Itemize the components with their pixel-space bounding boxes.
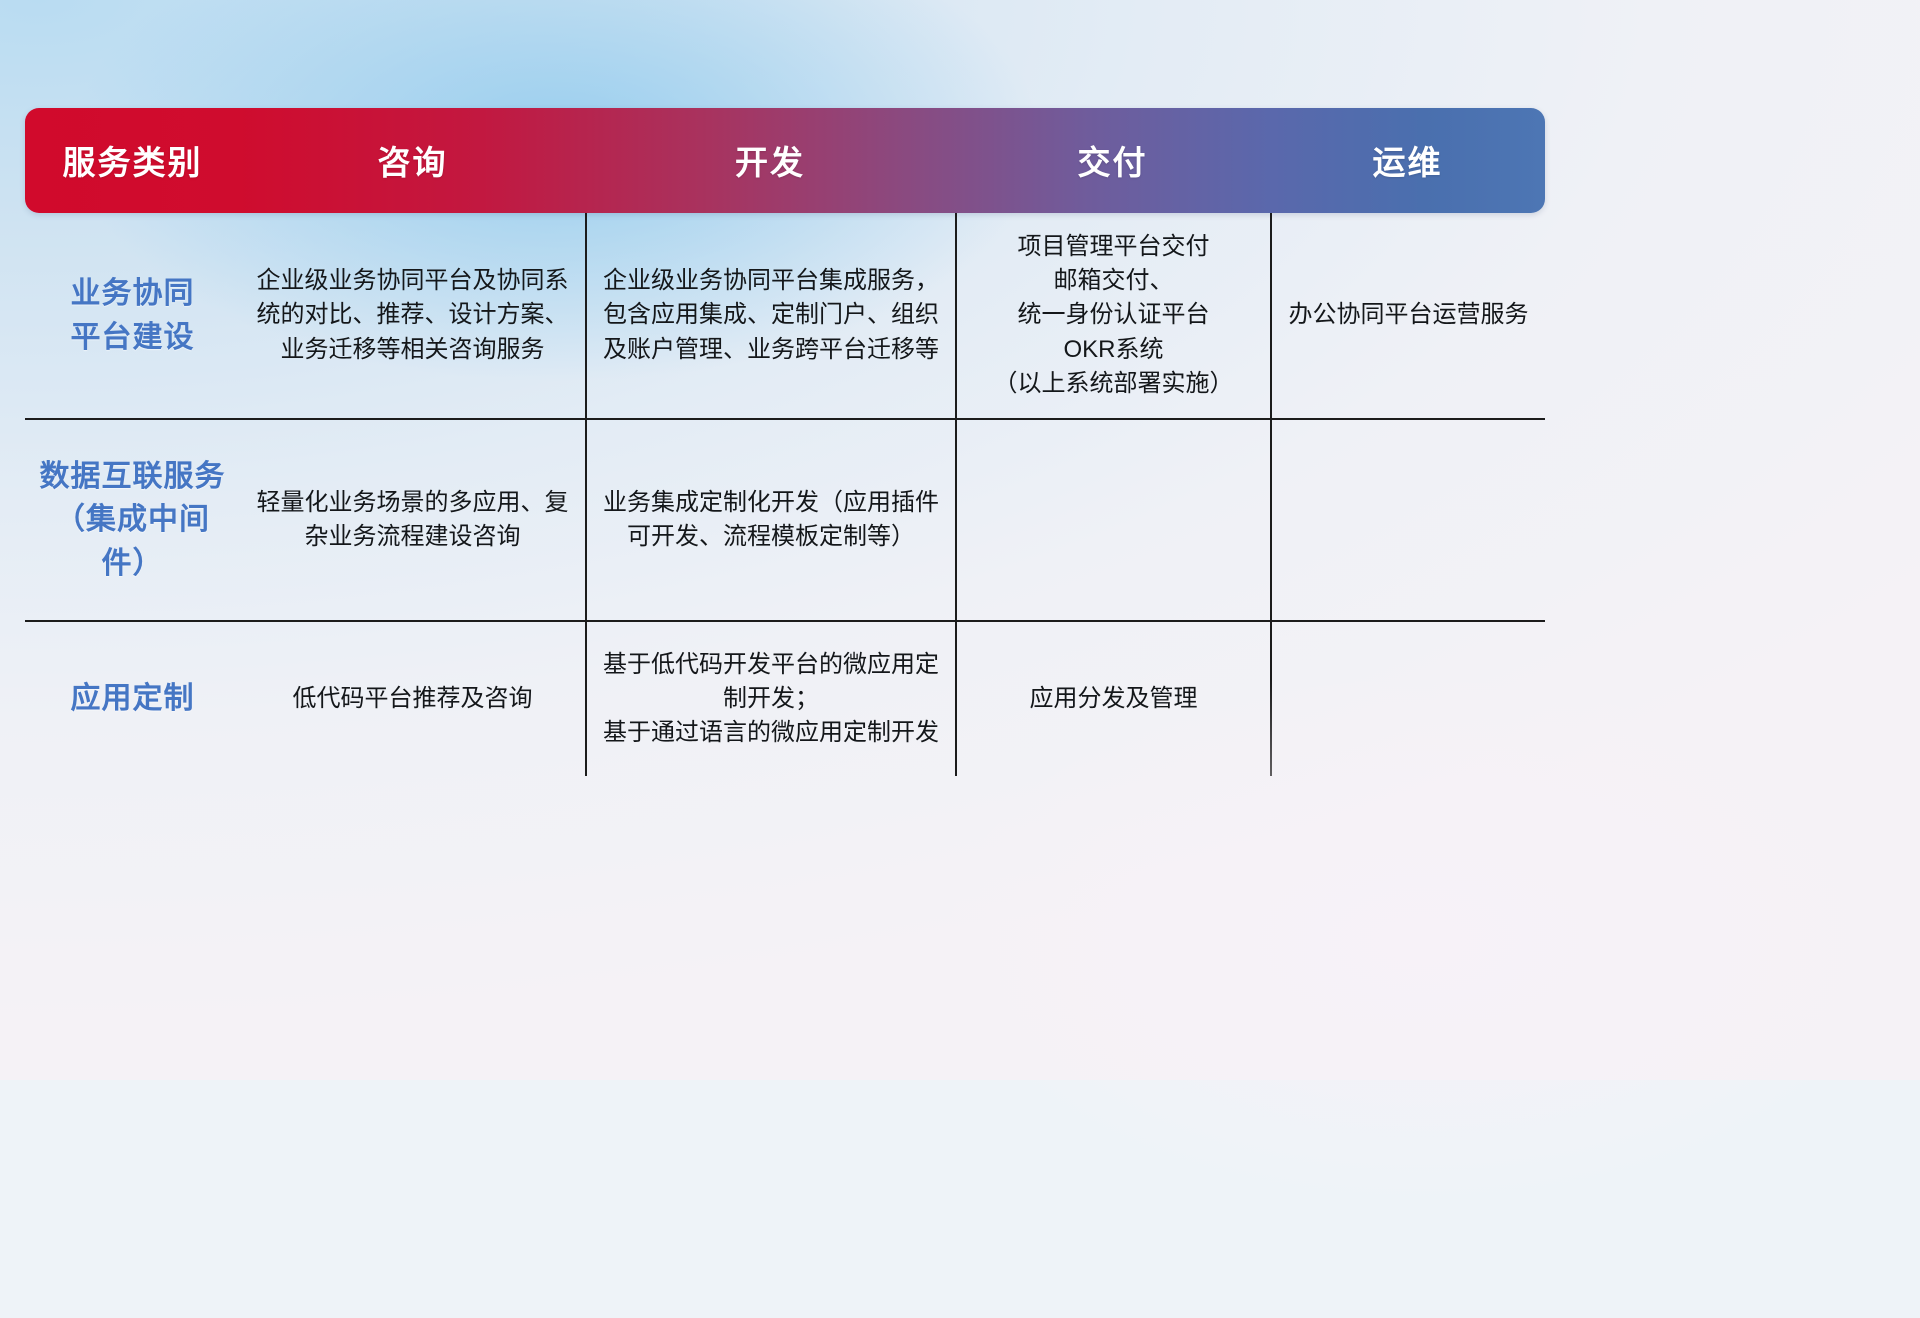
cell-operations <box>1270 420 1545 620</box>
cell-delivery: 项目管理平台交付 邮箱交付、 统一身份认证平台 OKR系统 （以上系统部署实施） <box>955 213 1270 418</box>
cell-development: 企业级业务协同平台集成服务， 包含应用集成、定制门户、组织 及账户管理、业务跨平… <box>585 213 955 418</box>
row-label-app-customization: 应用定制 <box>71 677 195 720</box>
cell-development: 业务集成定制化开发（应用插件 可开发、流程模板定制等） <box>585 420 955 620</box>
column-header-category-label: 服务类别 <box>63 136 203 184</box>
column-header-development-label: 开发 <box>735 136 805 184</box>
cell-development-text: 企业级业务协同平台集成服务， 包含应用集成、定制门户、组织 及账户管理、业务跨平… <box>603 264 939 366</box>
cell-delivery-text: 项目管理平台交付 邮箱交付、 统一身份认证平台 OKR系统 （以上系统部署实施） <box>994 230 1234 400</box>
table-header-row: 服务类别 咨询 开发 交付 运维 <box>25 108 1545 213</box>
cell-delivery-text: 应用分发及管理 <box>1030 682 1198 716</box>
row-label-data-interconnect: 数据互联服务 （集成中间件） <box>39 455 226 585</box>
column-header-development: 开发 <box>585 108 955 213</box>
row-label-cell: 数据互联服务 （集成中间件） <box>25 420 240 620</box>
cell-consulting-text: 轻量化业务场景的多应用、复 杂业务流程建设咨询 <box>257 486 569 554</box>
cell-operations-text: 办公协同平台运营服务 <box>1289 298 1529 332</box>
cell-operations: 办公协同平台运营服务 <box>1270 213 1545 418</box>
column-header-operations-label: 运维 <box>1373 136 1443 184</box>
cell-delivery <box>955 420 1270 620</box>
cell-consulting-text: 低代码平台推荐及咨询 <box>293 682 533 716</box>
cell-consulting: 企业级业务协同平台及协同系 统的对比、推荐、设计方案、 业务迁移等相关咨询服务 <box>240 213 585 418</box>
cell-consulting: 低代码平台推荐及咨询 <box>240 622 585 776</box>
cell-consulting: 轻量化业务场景的多应用、复 杂业务流程建设咨询 <box>240 420 585 620</box>
column-header-delivery-label: 交付 <box>1078 136 1148 184</box>
cell-delivery: 应用分发及管理 <box>955 622 1270 776</box>
row-label-cell: 应用定制 <box>25 622 240 776</box>
cell-operations <box>1270 622 1545 776</box>
table-row: 业务协同 平台建设 企业级业务协同平台及协同系 统的对比、推荐、设计方案、 业务… <box>25 213 1545 420</box>
slide-canvas: 服务类别 咨询 开发 交付 运维 业务协同 平台建设 <box>0 0 1920 1080</box>
column-header-consulting: 咨询 <box>240 108 585 213</box>
table-row: 应用定制 低代码平台推荐及咨询 基于低代码开发平台的微应用定 制开发； 基于通过… <box>25 622 1545 776</box>
column-header-delivery: 交付 <box>955 108 1270 213</box>
table-row: 数据互联服务 （集成中间件） 轻量化业务场景的多应用、复 杂业务流程建设咨询 业… <box>25 420 1545 622</box>
cell-consulting-text: 企业级业务协同平台及协同系 统的对比、推荐、设计方案、 业务迁移等相关咨询服务 <box>257 264 569 366</box>
column-header-category: 服务类别 <box>25 108 240 213</box>
table-body: 业务协同 平台建设 企业级业务协同平台及协同系 统的对比、推荐、设计方案、 业务… <box>25 213 1545 776</box>
column-header-consulting-label: 咨询 <box>378 136 448 184</box>
row-label-business-collaboration: 业务协同 平台建设 <box>71 272 195 358</box>
service-category-matrix: 服务类别 咨询 开发 交付 运维 业务协同 平台建设 <box>25 108 1545 776</box>
cell-development-text: 基于低代码开发平台的微应用定 制开发； 基于通过语言的微应用定制开发 <box>603 648 939 750</box>
row-label-cell: 业务协同 平台建设 <box>25 213 240 418</box>
column-header-operations: 运维 <box>1270 108 1545 213</box>
cell-development: 基于低代码开发平台的微应用定 制开发； 基于通过语言的微应用定制开发 <box>585 622 955 776</box>
cell-development-text: 业务集成定制化开发（应用插件 可开发、流程模板定制等） <box>603 486 939 554</box>
